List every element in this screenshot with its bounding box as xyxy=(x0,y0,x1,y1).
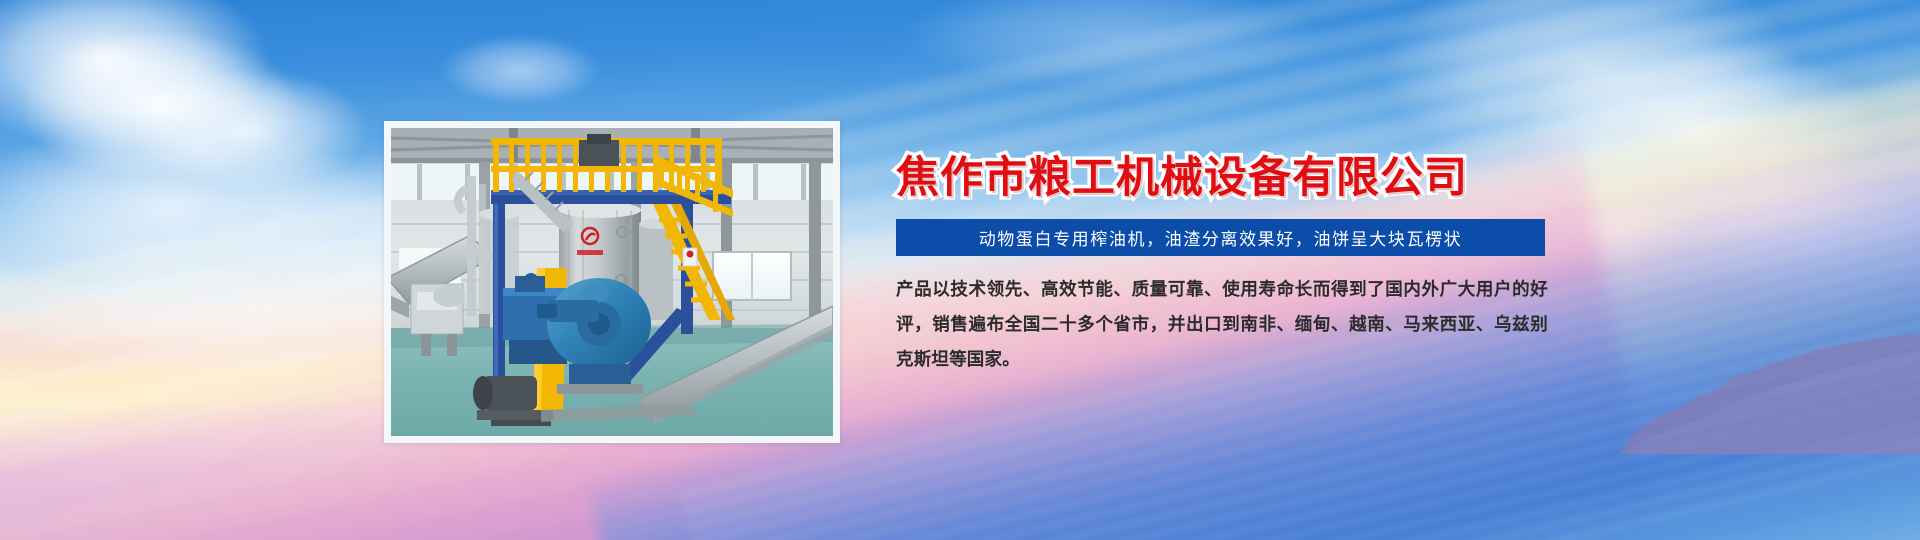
factory-photo-card xyxy=(384,121,840,443)
subtitle-text: 动物蛋白专用榨油机，油渣分离效果好，油饼呈大块瓦楞状 xyxy=(979,225,1463,250)
subtitle-banner: 动物蛋白专用榨油机，油渣分离效果好，油饼呈大块瓦楞状 xyxy=(896,219,1545,256)
promo-banner: 焦作市粮工机械设备有限公司 焦作市粮工机械设备有限公司 动物蛋白专用榨油机，油渣… xyxy=(0,0,1920,540)
company-title: 焦作市粮工机械设备有限公司 焦作市粮工机械设备有限公司 xyxy=(896,150,1566,208)
mountain-silhouette-icon xyxy=(1620,334,1920,454)
factory-photo xyxy=(391,128,833,436)
banner-text-block: 焦作市粮工机械设备有限公司 焦作市粮工机械设备有限公司 动物蛋白专用榨油机，油渣… xyxy=(896,150,1566,396)
factory-photo-illustration xyxy=(391,128,833,436)
description-paragraph: 产品以技术领先、高效节能、质量可靠、使用寿命长而得到了国内外广大用户的好评，销售… xyxy=(896,273,1548,378)
company-title-text: 焦作市粮工机械设备有限公司 xyxy=(896,150,1468,206)
